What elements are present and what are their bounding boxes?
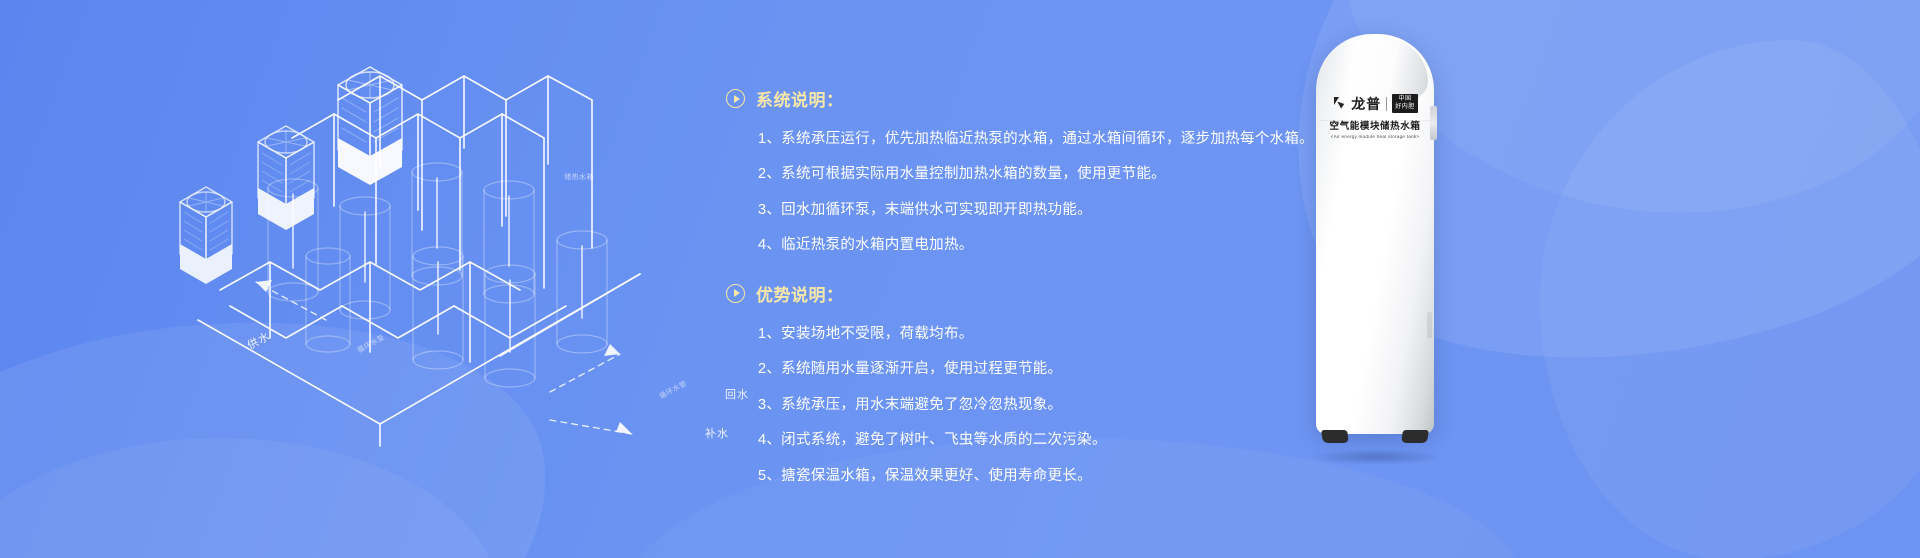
- system-diagram: 供水 回水 补水 循环水管 循环水泵 储热水箱: [80, 20, 740, 460]
- water-tank-foot-right: [1401, 430, 1429, 443]
- advantage-description-list: 1、安装场地不受限，荷载均布。 2、系统随用水量逐渐开启，使用过程更节能。 3、…: [726, 323, 1366, 487]
- product-title-cn: 空气能模块储热水箱: [1316, 118, 1434, 132]
- quality-badge: 中国 好内胆: [1392, 94, 1418, 113]
- dragon-logo-icon: [1332, 97, 1346, 111]
- list-item: 3、回水加循环泵，末端供水可实现即开即热功能。: [758, 199, 1366, 221]
- product-banner: 供水 回水 补水 循环水管 循环水泵 储热水箱 系统说明： 1、系统承压运行，优…: [0, 0, 1920, 558]
- storage-tank: [306, 248, 350, 352]
- description-panel: 系统说明： 1、系统承压运行，优先加热临近热泵的水箱，通过水箱间循环，逐步加热每…: [726, 86, 1366, 500]
- section-system-description: 系统说明： 1、系统承压运行，优先加热临近热泵的水箱，通过水箱间循环，逐步加热每…: [726, 86, 1366, 257]
- pipe-network: [198, 76, 640, 446]
- quality-badge-line2: 好内胆: [1395, 104, 1415, 110]
- list-item: 2、系统随用水量逐渐开启，使用过程更节能。: [758, 358, 1366, 380]
- quality-badge-line1: 中国: [1398, 96, 1411, 102]
- system-description-list: 1、系统承压运行，优先加热临近热泵的水箱，通过水箱间循环，逐步加热每个水箱。 2…: [726, 128, 1366, 257]
- list-item: 3、系统承压，用水末端避免了忽冷忽热现象。: [758, 394, 1366, 416]
- brand-divider: [1386, 97, 1387, 111]
- heat-pump-unit-1: [338, 67, 402, 185]
- list-item: 1、系统承压运行，优先加热临近热泵的水箱，通过水箱间循环，逐步加热每个水箱。: [758, 128, 1366, 150]
- section-advantage-description: 优势说明： 1、安装场地不受限，荷载均布。 2、系统随用水量逐渐开启，使用过程更…: [726, 281, 1366, 487]
- water-tank-inspection-port: [1427, 312, 1432, 338]
- section-header: 系统说明：: [726, 86, 1366, 111]
- play-circle-icon: [726, 284, 745, 303]
- product-label: 龙普 中国 好内胆 空气能模块储热水箱 <Air energy module h…: [1316, 94, 1434, 139]
- background-wave-right: [1540, 40, 1920, 558]
- heat-pump-unit-2: [258, 126, 314, 230]
- list-item: 5、搪瓷保温水箱，保温效果更好、使用寿命更长。: [758, 465, 1366, 487]
- brand-row: 龙普 中国 好内胆: [1316, 94, 1434, 113]
- flow-arrows: [256, 282, 632, 434]
- product-title-en: <Air energy module heat storage tank>: [1316, 134, 1434, 139]
- list-item: 1、安装场地不受限，荷载均布。: [758, 323, 1366, 345]
- product-shadow: [1310, 449, 1442, 465]
- water-tank-foot-left: [1321, 430, 1349, 443]
- diagram-label-storage-tank: 储热水箱: [564, 172, 594, 182]
- list-item: 4、闭式系统，避免了树叶、飞虫等水质的二次污染。: [758, 429, 1366, 451]
- section-title: 系统说明：: [756, 86, 844, 111]
- play-circle-icon: [726, 89, 745, 108]
- flow-arrow-heads: [256, 280, 632, 434]
- list-item: 2、系统可根据实际用水量控制加热水箱的数量，使用更节能。: [758, 163, 1366, 185]
- heat-pump-unit-3: [180, 187, 232, 284]
- brand-name: 龙普: [1351, 97, 1381, 111]
- product-image: 龙普 中国 好内胆 空气能模块储热水箱 <Air energy module h…: [1316, 34, 1436, 449]
- water-tank-body: 龙普 中国 好内胆 空气能模块储热水箱 <Air energy module h…: [1316, 34, 1434, 434]
- list-item: 4、临近热泵的水箱内置电加热。: [758, 234, 1366, 256]
- section-title: 优势说明：: [756, 281, 844, 306]
- section-header: 优势说明：: [726, 281, 1366, 306]
